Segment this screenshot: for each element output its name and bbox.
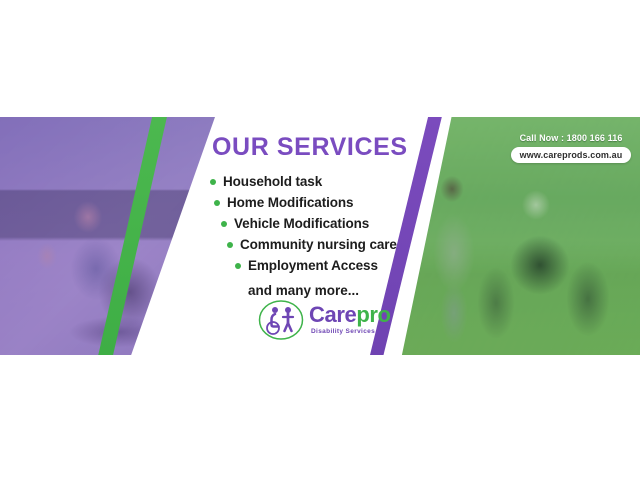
list-item: Vehicle Modifications	[221, 213, 485, 234]
wheelchair-and-person-icon	[258, 299, 304, 341]
call-now-text[interactable]: Call Now : 1800 166 116	[508, 133, 634, 143]
center-content-panel: OUR SERVICES Household task Home Modific…	[150, 117, 490, 355]
bullet-icon	[227, 242, 233, 248]
page-title: OUR SERVICES	[212, 135, 408, 160]
services-list: Household task Home Modifications Vehicl…	[210, 171, 485, 276]
brand-logo: Carepro Disability Services	[258, 299, 391, 341]
list-item: Household task	[210, 171, 485, 192]
service-label: Household task	[223, 174, 322, 189]
website-pill[interactable]: www.careprods.com.au	[511, 147, 632, 163]
service-label: Community nursing care	[240, 237, 397, 252]
page-root: OUR SERVICES Household task Home Modific…	[0, 0, 640, 480]
bullet-icon	[210, 179, 216, 185]
logo-text-block: Carepro Disability Services	[309, 304, 391, 336]
list-item: Community nursing care	[227, 234, 485, 255]
logo-word-pro: pro	[356, 302, 390, 327]
logo-tagline: Disability Services	[311, 329, 391, 336]
service-label: Employment Access	[248, 258, 378, 273]
more-services-text: and many more...	[210, 283, 359, 298]
service-label: Home Modifications	[227, 195, 353, 210]
logo-word-care: Care	[309, 302, 356, 327]
list-item: Employment Access	[235, 255, 485, 276]
services-banner: OUR SERVICES Household task Home Modific…	[0, 117, 640, 355]
contact-block: Call Now : 1800 166 116 www.careprods.co…	[508, 133, 634, 163]
logo-wordmark: Carepro	[309, 304, 391, 326]
bullet-icon	[214, 200, 220, 206]
service-label: Vehicle Modifications	[234, 216, 369, 231]
list-item: Home Modifications	[214, 192, 485, 213]
bullet-icon	[235, 263, 241, 269]
bullet-icon	[221, 221, 227, 227]
